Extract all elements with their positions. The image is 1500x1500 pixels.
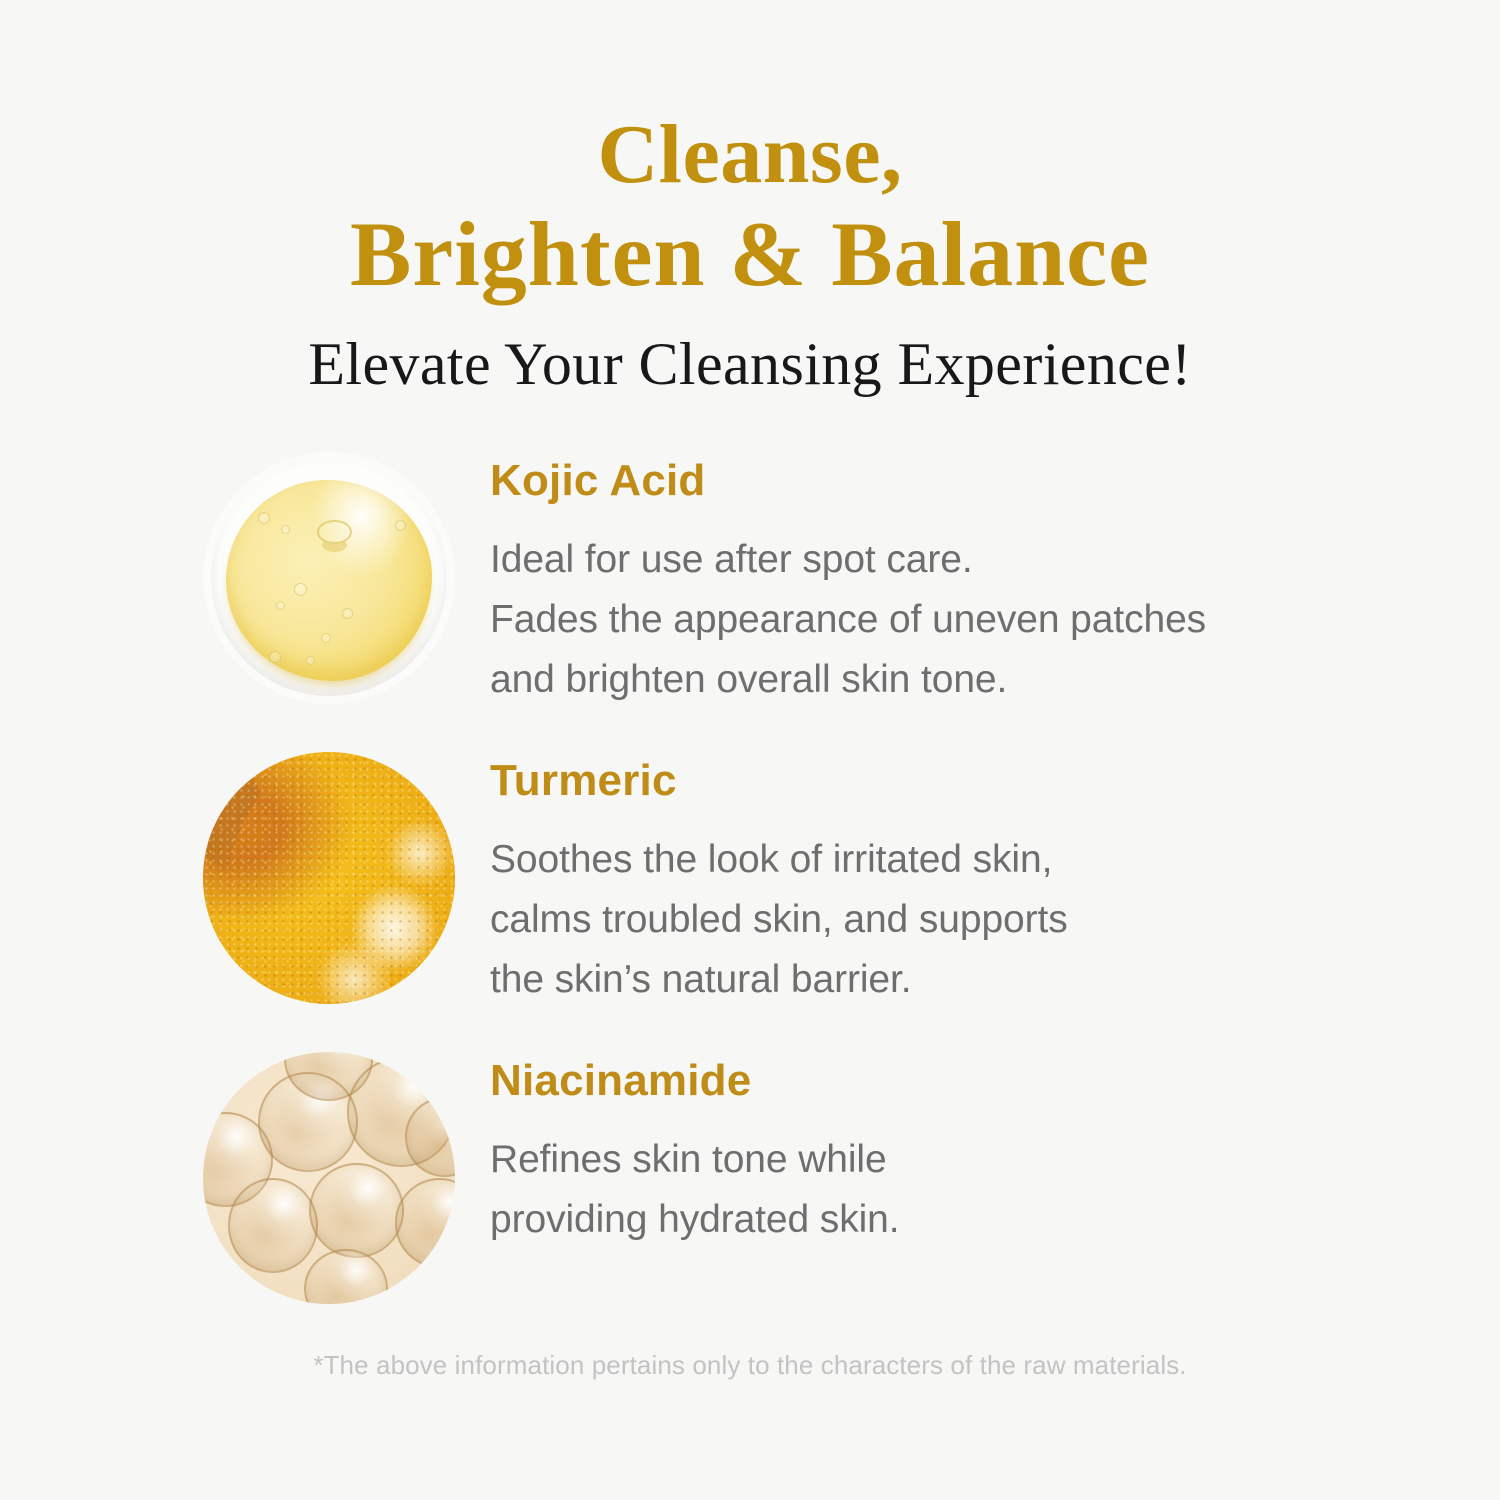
bubble-icon [294,583,307,596]
bubble-icon [342,608,353,619]
header: Cleanse, Brighten & Balance Elevate Your… [0,0,1500,397]
ingredient-item: Turmeric Soothes the look of irritated s… [0,752,1500,1052]
capsule-icon [304,1249,389,1304]
capsule-icon [228,1178,318,1273]
description-line: calms troubled skin, and supports [490,890,1410,950]
gel-drop-shape [226,480,433,682]
ingredient-name: Niacinamide [490,1058,1410,1104]
description-line: Refines skin tone while [490,1130,1410,1190]
ingredient-list: Kojic Acid Ideal for use after spot care… [0,452,1500,1352]
ingredient-description: Soothes the look of irritated skin, calm… [490,830,1410,1010]
capsule-icon [309,1163,404,1258]
description-line: and brighten overall skin tone. [490,650,1410,710]
bubble-icon [269,651,281,663]
bubble-icon [395,520,406,531]
title-line-2: Brighten & Balance [0,203,1500,307]
product-ingredient-infographic: Cleanse, Brighten & Balance Elevate Your… [0,0,1500,1500]
ingredient-text-block: Niacinamide Refines skin tone while prov… [490,1058,1410,1250]
ingredient-name: Turmeric [490,758,1410,804]
description-line: Ideal for use after spot care. [490,530,1410,590]
page-subtitle: Elevate Your Cleansing Experience! [0,307,1500,397]
ingredient-text-block: Turmeric Soothes the look of irritated s… [490,758,1410,1010]
powder-grain-texture [203,752,455,1004]
niacinamide-capsules-swatch-icon [203,1052,455,1304]
kojic-acid-gel-swatch-icon [203,452,455,704]
ingredient-text-block: Kojic Acid Ideal for use after spot care… [490,458,1410,710]
description-line: Soothes the look of irritated skin, [490,830,1410,890]
ingredient-description: Refines skin tone while providing hydrat… [490,1130,1410,1250]
title-line-1: Cleanse, [0,108,1500,203]
page-title: Cleanse, Brighten & Balance [0,108,1500,307]
description-line: Fades the appearance of uneven patches [490,590,1410,650]
description-line: providing hydrated skin. [490,1190,1410,1250]
turmeric-powder-swatch-icon [203,752,455,1004]
description-line: the skin’s natural barrier. [490,950,1410,1010]
ingredient-description: Ideal for use after spot care. Fades the… [490,530,1410,710]
bubble-icon [276,601,285,610]
ingredient-name: Kojic Acid [490,458,1410,504]
capsule-icon [395,1178,455,1268]
ingredient-item: Niacinamide Refines skin tone while prov… [0,1052,1500,1352]
footnote-disclaimer: *The above information pertains only to … [0,1350,1500,1381]
ingredient-item: Kojic Acid Ideal for use after spot care… [0,452,1500,752]
